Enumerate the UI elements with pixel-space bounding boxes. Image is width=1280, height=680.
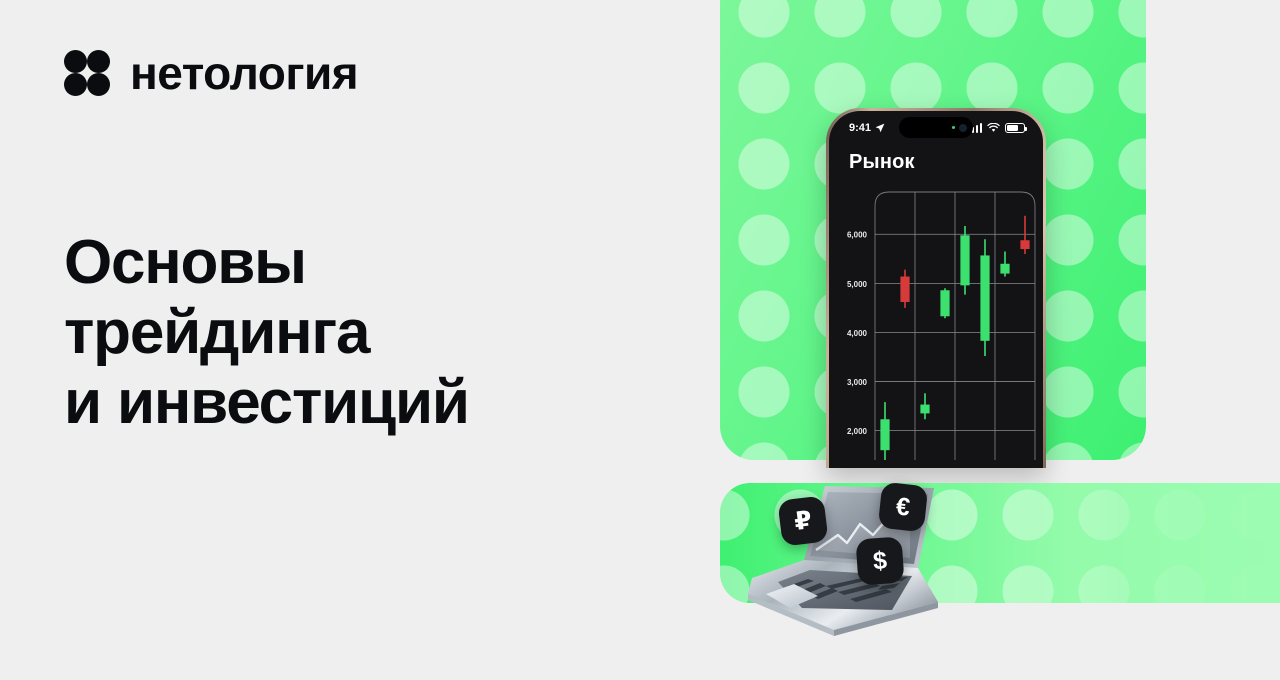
headline-line-1: Основы	[64, 228, 469, 298]
market-candlestick-chart[interactable]: 2,0003,0004,0005,0006,000	[829, 184, 1043, 460]
screen-title: Рынок	[829, 145, 1043, 184]
y-axis-tick-label: 3,000	[847, 378, 868, 387]
headline-line-2: трейдинга	[64, 298, 469, 368]
candlestick[interactable]	[1020, 216, 1029, 254]
brand-logo[interactable]: нетология	[64, 50, 358, 96]
front-camera-icon	[959, 124, 967, 132]
promo-banner: нетология Основы трейдинга и инвестиций …	[0, 0, 1280, 680]
brand-name: нетология	[130, 50, 358, 96]
ruble-coin-icon: ₽	[777, 495, 828, 546]
candlestick-chart-svg: 2,0003,0004,0005,0006,000	[829, 184, 1043, 460]
status-bar-time: 9:41	[849, 122, 871, 134]
y-axis-tick-label: 6,000	[847, 231, 868, 240]
candlestick[interactable]	[920, 393, 929, 419]
candlestick[interactable]	[1000, 252, 1009, 277]
candlestick[interactable]	[940, 288, 949, 318]
page-title: Основы трейдинга и инвестиций	[64, 228, 469, 438]
y-axis-tick-label: 2,000	[847, 427, 868, 436]
four-circles-icon	[64, 50, 110, 96]
candlestick[interactable]	[960, 226, 969, 295]
status-led-icon	[952, 126, 955, 129]
phone-mockup: 9:41	[826, 108, 1046, 468]
y-axis-tick-label: 5,000	[847, 280, 868, 289]
candlestick[interactable]	[880, 402, 889, 460]
candlestick[interactable]	[980, 239, 989, 356]
battery-icon	[1005, 123, 1025, 133]
dynamic-island	[899, 117, 973, 138]
euro-coin-icon: €	[878, 482, 929, 533]
wifi-icon	[987, 123, 1000, 133]
y-axis-tick-label: 4,000	[847, 329, 868, 338]
status-bar-time-group: 9:41	[849, 122, 885, 134]
phone-screen: 9:41	[829, 111, 1043, 468]
candlestick[interactable]	[900, 270, 909, 308]
dollar-coin-icon: $	[855, 536, 904, 585]
status-bar-indicators	[968, 123, 1026, 133]
headline-line-3: и инвестиций	[64, 368, 469, 438]
phone-status-bar: 9:41	[829, 111, 1043, 145]
location-arrow-icon	[875, 123, 885, 133]
